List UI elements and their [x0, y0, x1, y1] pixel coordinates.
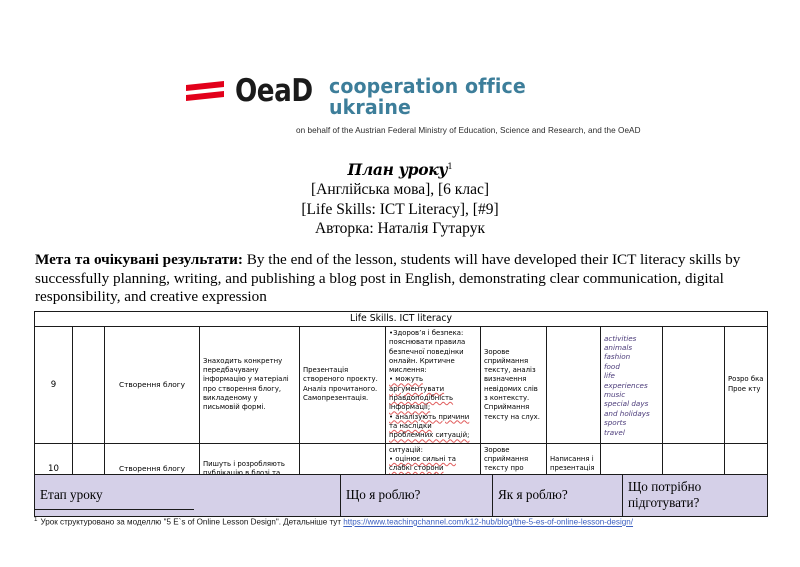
footnote-marker: 1 [34, 516, 37, 523]
vocab-word: animals [604, 343, 659, 352]
logo-subtitle-line1: cooperation office [329, 76, 526, 97]
page-title: План уроку1 [347, 158, 452, 179]
author-line: Авторка: Наталія Гутарук [0, 219, 800, 239]
row-activity [547, 327, 601, 444]
oead-logo: OeaD cooperation office ukraine on behal… [186, 76, 616, 136]
row-number: 9 [35, 327, 73, 444]
logo-brand: OeaD [235, 76, 313, 107]
vocab-word: and holidays [604, 409, 659, 418]
life-skills-intro: •Здоров’я і безпека: пояснювати правила … [389, 329, 477, 375]
row-product: Презентація створеного проєкту. Аналіз п… [300, 327, 386, 444]
vocab-word: food [604, 362, 659, 371]
row-skills: Знаходить конкретну передбачувану інформ… [200, 327, 300, 444]
row-life-skills: •Здоров’я і безпека: пояснювати правила … [386, 327, 481, 444]
topic-line: [Life Skills: ICT Literacy], [#9] [0, 200, 800, 220]
vocab-word: fashion [604, 352, 659, 361]
vocab-word: special days [604, 399, 659, 408]
goal-paragraph: Мета та очікувані результати: By the end… [35, 251, 768, 307]
page-title-wrap: План уроку1 [0, 158, 800, 180]
subject-line: [Англійська мова], [6 клас] [0, 180, 800, 200]
vocab-word: life [604, 371, 659, 380]
stage-what: Що я роблю? [341, 475, 493, 517]
footnote-link[interactable]: https://www.teachingchannel.com/k12-hub/… [343, 518, 633, 527]
document-page: OeaD cooperation office ukraine on behal… [0, 0, 800, 567]
stage-how: Як я роблю? [493, 475, 623, 517]
austrian-flag-bars-icon [186, 79, 226, 109]
logo-tagline: on behalf of the Austrian Federal Minist… [296, 126, 616, 136]
goal-label: Мета та очікувані результати: [35, 251, 243, 268]
vocab-word: music [604, 390, 659, 399]
title-footnote-marker: 1 [447, 162, 452, 172]
logo-subtitle-group: cooperation office ukraine [329, 76, 536, 117]
logo-text-group: OeaD cooperation office ukraine [235, 76, 536, 117]
footnote-text: Урок структуровано за моделлю "5 E`s of … [40, 518, 343, 527]
title-block: План уроку1 [Англійська мова], [6 клас] … [0, 158, 800, 239]
vocab-word: sports [604, 418, 659, 427]
row-perception: Зорове сприймання тексту, аналіз визначе… [481, 327, 547, 444]
stage-prepare: Що потрібно підготувати? [623, 475, 768, 517]
footnote-separator [34, 509, 194, 510]
logo-subtitle-line2: ukraine [329, 97, 526, 118]
footnote: 1Урок структуровано за моделлю "5 E`s of… [34, 514, 767, 528]
row-project: Розро бка Прое кту [725, 327, 768, 444]
row-vocabulary: activities animals fashion food life exp… [601, 327, 663, 444]
row-topic: Створення блогу [105, 327, 200, 444]
table-header-row: Life Skills. ICT literacy [35, 312, 768, 327]
table-row: 9 Створення блогу Знаходить конкретну пе… [35, 327, 768, 444]
stage-bar-row: Етап уроку Що я роблю? Як я роблю? Що по… [35, 475, 768, 517]
life-skills-bullet-2: • аналізують причини та наслідки проблем… [389, 413, 477, 441]
row-extra [663, 327, 725, 444]
stage-bar-table: Етап уроку Що я роблю? Як я роблю? Що по… [34, 474, 768, 517]
vocab-word: travel [604, 428, 659, 437]
life-skills-bullet-1: • можуть аргументувати правдоподібність … [389, 375, 477, 412]
row-blank-col [73, 327, 105, 444]
life-skills-table: Life Skills. ICT literacy 9 Створення бл… [34, 311, 768, 495]
stage-label: Етап уроку [35, 475, 341, 517]
table-header-title: Life Skills. ICT literacy [35, 312, 768, 327]
vocab-word: experiences [604, 381, 659, 390]
life-skills-intro: ситуацій: [389, 446, 477, 455]
logo-row: OeaD cooperation office ukraine [186, 76, 616, 117]
page-title-text: План уроку [347, 160, 447, 179]
vocab-word: activities [604, 334, 659, 343]
